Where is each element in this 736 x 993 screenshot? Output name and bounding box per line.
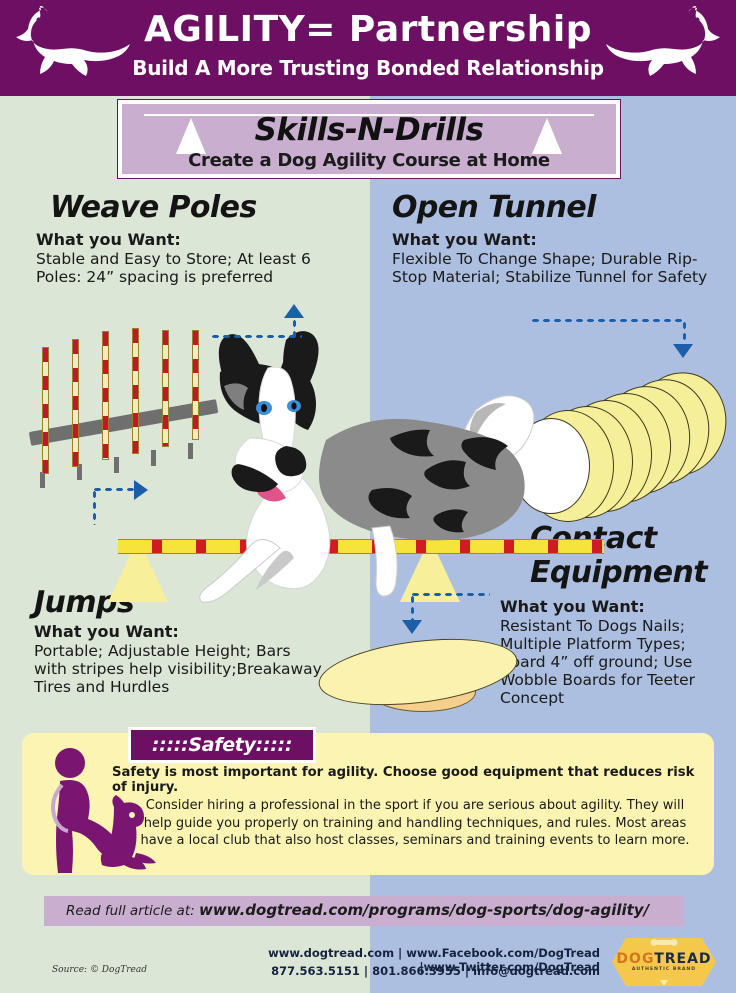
weave-pole-5 xyxy=(162,330,169,447)
footer-source: Source: © DogTread xyxy=(52,965,147,975)
section-title-contact-equipment: Contact Equipment xyxy=(530,522,730,590)
dotted-connector-contact-h xyxy=(410,592,490,597)
arrow-down-contact-icon xyxy=(402,620,422,634)
weave-pole-3 xyxy=(102,331,109,460)
safety-tab: :::::Safety::::: xyxy=(128,727,316,763)
header-banner: AGILITY= Partnership Build A More Trusti… xyxy=(0,0,736,96)
section-label-jumps: What you Want: xyxy=(34,622,179,641)
dotted-connector-tunnel-v xyxy=(682,320,687,346)
infographic-poster: AGILITY= Partnership Build A More Trusti… xyxy=(0,0,736,993)
arrow-down-tunnel-icon xyxy=(673,344,693,358)
article-lead-label: Read full article at: xyxy=(66,903,199,919)
logo-tread-text: TREAD xyxy=(654,951,711,967)
dogtread-logo[interactable]: DOGTREAD AUTHENTIC BRAND xyxy=(608,934,720,990)
weave-pole-2 xyxy=(72,339,79,467)
weave-pole-4 xyxy=(132,328,139,454)
logo-wordmark: DOGTREAD xyxy=(608,951,720,967)
article-link-bar[interactable]: Read full article at: www.dogtread.com/p… xyxy=(44,896,684,926)
section-body-open-tunnel: Flexible To Change Shape; Durable Rip-St… xyxy=(392,250,712,286)
running-dog-silhouette-right xyxy=(604,6,722,90)
weave-foot xyxy=(151,450,156,466)
arrow-right-jumps-icon xyxy=(134,480,148,500)
safety-paragraph: Consider hiring a professional in the sp… xyxy=(130,797,700,850)
weave-foot xyxy=(40,472,45,488)
section-body-contact-equipment: Resistant To Dogs Nails; Multiple Platfo… xyxy=(500,617,736,707)
safety-tab-label: :::::Safety::::: xyxy=(131,734,313,756)
dotted-connector-jumps-v xyxy=(92,489,97,525)
plaque-subtitle: Create a Dog Agility Course at Home xyxy=(122,150,616,171)
dotted-connector-contact-v xyxy=(410,594,415,622)
arrow-up-weave-icon xyxy=(284,304,304,318)
dotted-connector-weave-h xyxy=(210,334,302,339)
subtitle-plaque: Skills-N-Drills Create a Dog Agility Cou… xyxy=(118,100,620,178)
section-title-weave-poles: Weave Poles xyxy=(50,190,257,225)
border-collie-jumping-illustration xyxy=(176,330,536,605)
dotted-connector-jumps-h xyxy=(92,487,136,492)
section-body-weave-poles: Stable and Easy to Store; At least 6 Pol… xyxy=(36,250,346,286)
dotted-connector-weave-v xyxy=(292,318,297,336)
section-label-open-tunnel: What you Want: xyxy=(392,230,537,249)
weave-pole-1 xyxy=(42,347,49,474)
section-body-jumps: Portable; Adjustable Height; Bars with s… xyxy=(34,642,324,696)
footer-contact-info[interactable]: 877.563.5151 | 801.866.3955 | info@dogtr… xyxy=(160,964,600,978)
section-label-weave-poles: What you Want: xyxy=(36,230,181,249)
weave-foot xyxy=(114,457,119,473)
plaque-title: Skills-N-Drills xyxy=(122,112,616,148)
dotted-connector-tunnel-h xyxy=(530,318,686,323)
section-title-open-tunnel: Open Tunnel xyxy=(392,190,596,225)
article-link-text[interactable]: Read full article at: www.dogtread.com/p… xyxy=(66,901,649,919)
logo-tagline: AUTHENTIC BRAND xyxy=(608,967,720,972)
safety-headline: Safety is most important for agility. Ch… xyxy=(112,765,712,795)
article-url[interactable]: www.dogtread.com/programs/dog-sports/dog… xyxy=(199,901,649,919)
logo-dog-text: DOG xyxy=(616,951,654,967)
